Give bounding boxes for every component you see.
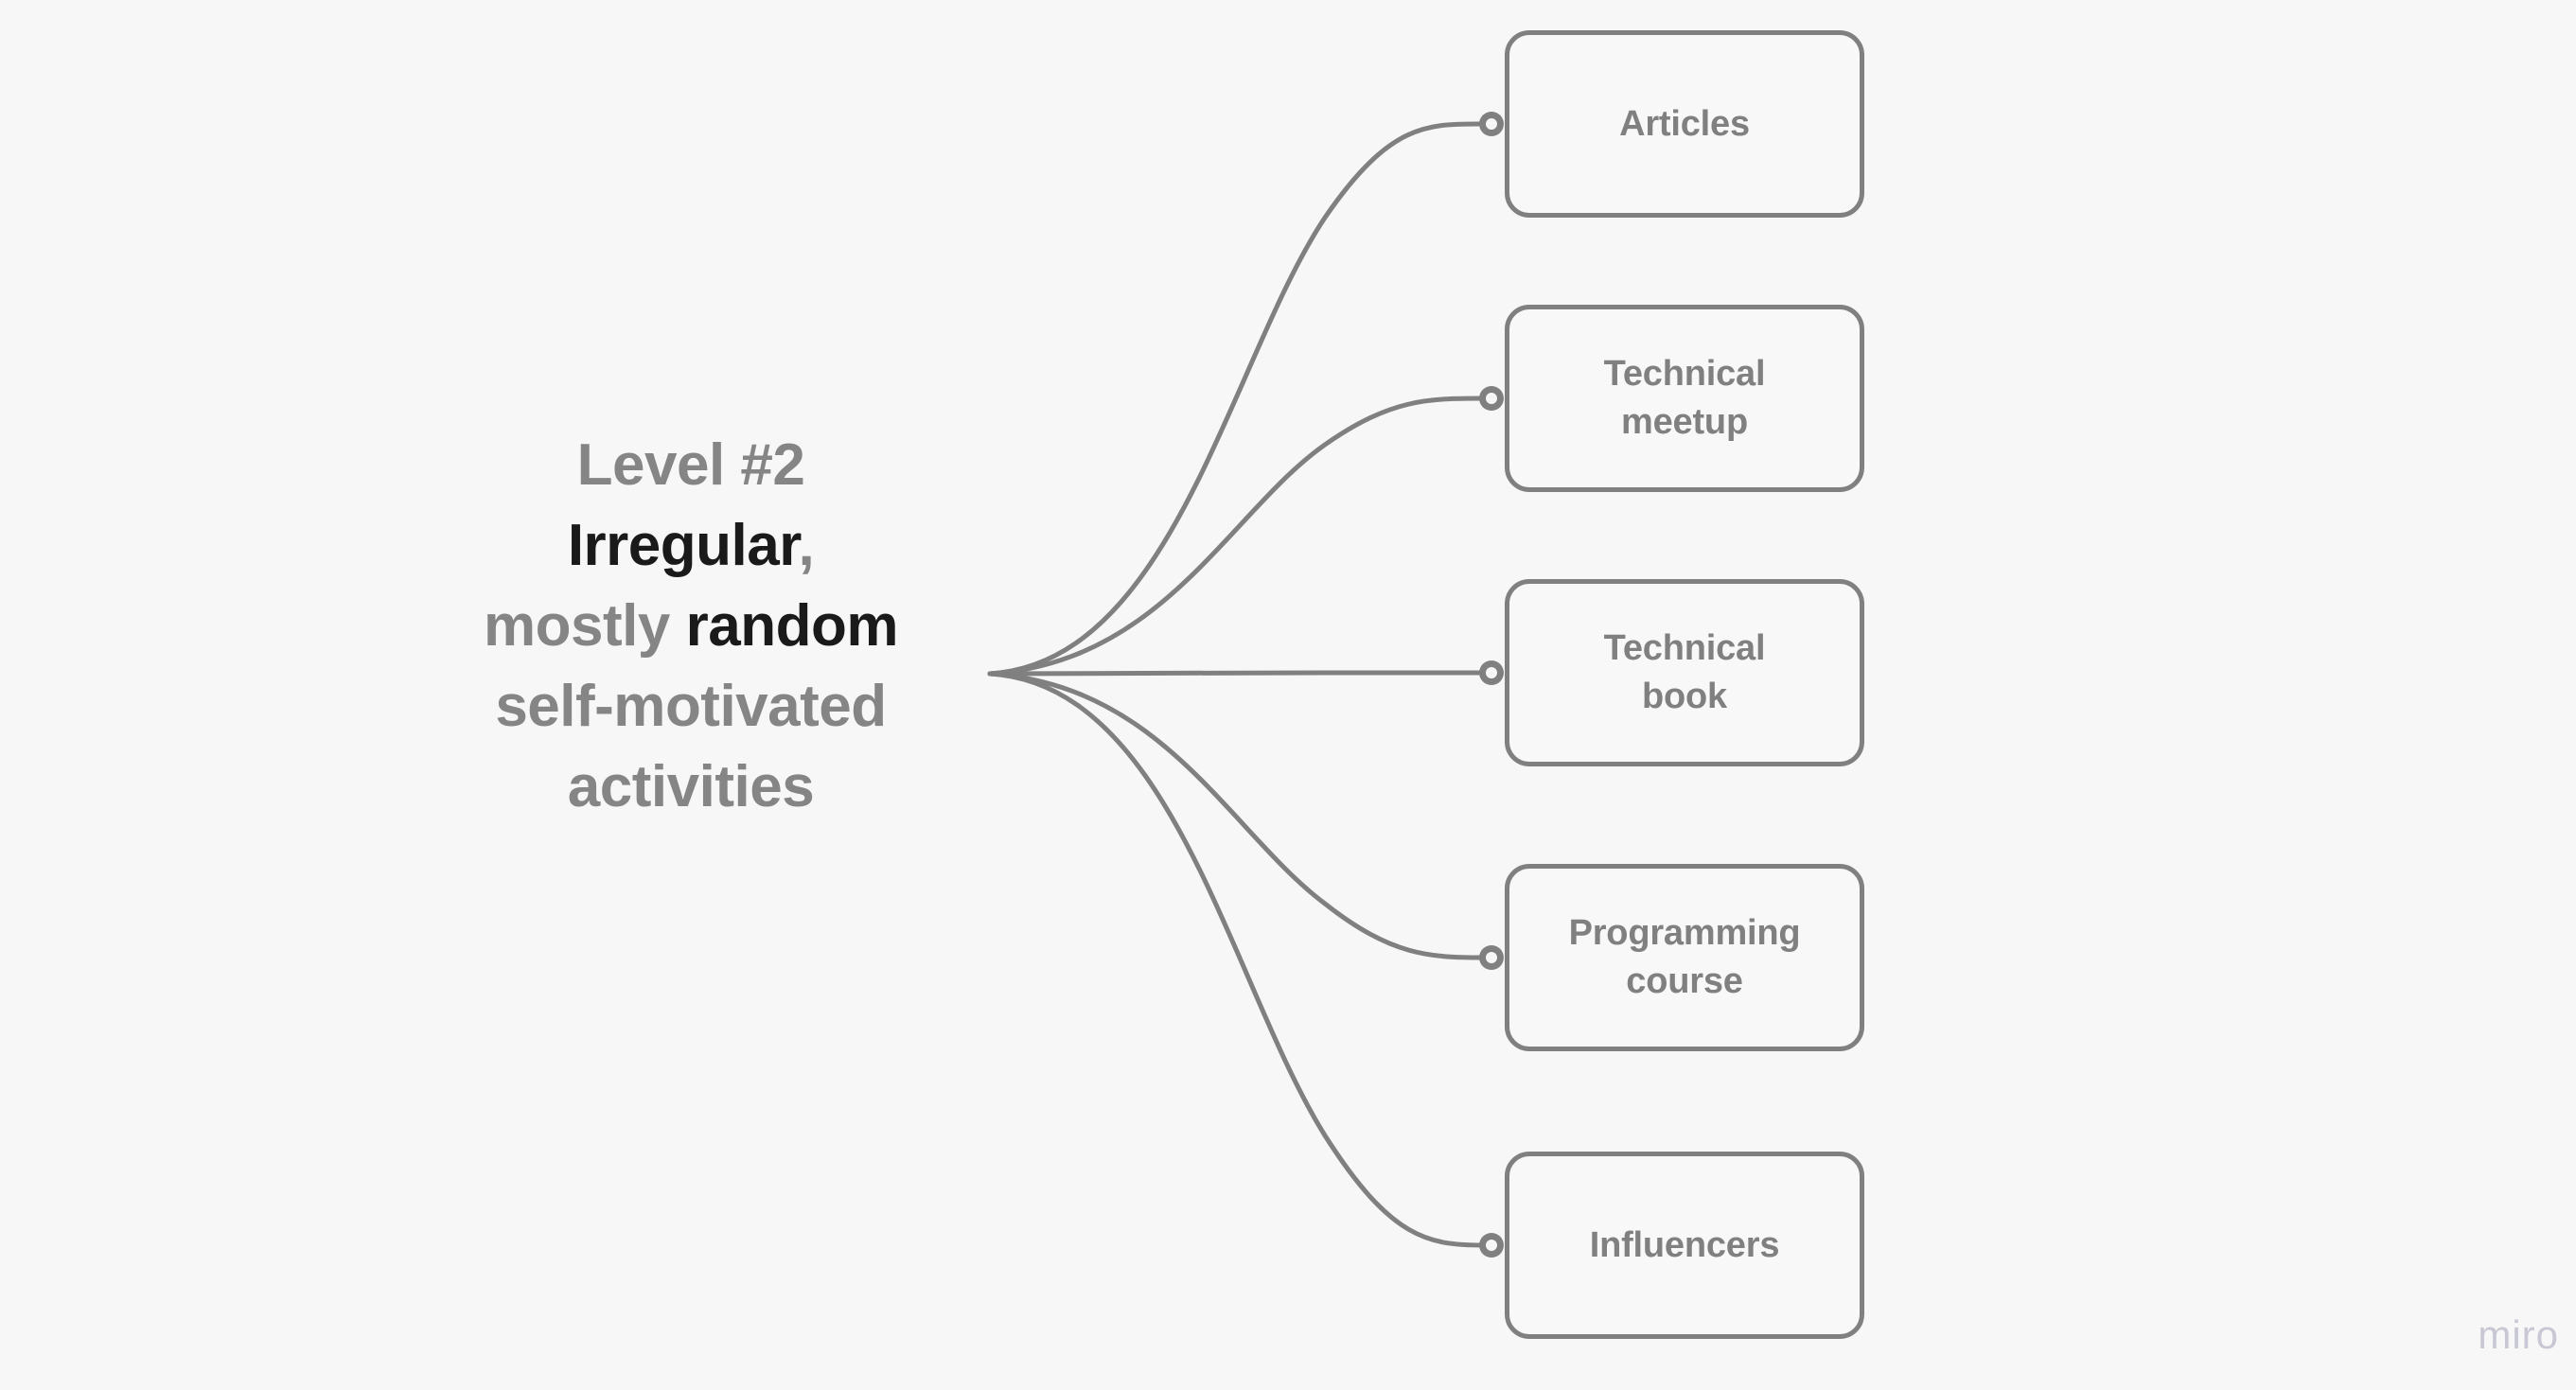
root-line-2: Irregular, [407, 506, 975, 587]
node-programming-course[interactable]: Programming course [1505, 864, 1864, 1051]
root-line-3: mostly random [407, 587, 975, 667]
node-influencers[interactable]: Influencers [1505, 1152, 1864, 1339]
root-emphasis-random: random [686, 593, 898, 659]
root-line-5: activities [407, 748, 975, 828]
node-technical-meetup[interactable]: Technical meetup [1505, 305, 1864, 492]
edge-to-technical-book [990, 673, 1484, 674]
node-articles[interactable]: Articles [1505, 30, 1864, 218]
node-label-technical-book: Technical book [1587, 625, 1783, 720]
edge-endpoint-technical-book [1479, 660, 1504, 685]
root-line-1: Level #2 [407, 426, 975, 506]
root-node[interactable]: Level #2 Irregular, mostly random self-m… [407, 426, 975, 828]
node-label-programming-course: Programming course [1552, 909, 1818, 1005]
edge-to-articles [990, 124, 1484, 674]
node-label-influencers: Influencers [1573, 1222, 1797, 1270]
edge-endpoint-influencers [1479, 1233, 1504, 1258]
edge-endpoint-articles [1479, 112, 1504, 136]
edge-layer [0, 0, 2576, 1390]
node-label-articles: Articles [1602, 100, 1767, 149]
node-technical-book[interactable]: Technical book [1505, 579, 1864, 766]
edge-endpoint-technical-meetup [1479, 386, 1504, 411]
edge-to-programming-course [990, 674, 1484, 958]
root-line-2-tail: , [798, 513, 814, 578]
edge-to-technical-meetup [990, 398, 1484, 674]
miro-watermark: miro [2478, 1312, 2559, 1358]
root-line-4: self-motivated [407, 667, 975, 748]
edge-to-influencers [990, 674, 1484, 1245]
edge-endpoint-programming-course [1479, 945, 1504, 970]
root-line-5-text: activities [568, 754, 814, 819]
root-emphasis-irregular: Irregular [568, 513, 799, 578]
root-line-3-lead: mostly [484, 593, 686, 659]
root-level-label: Level #2 [577, 432, 805, 498]
mindmap-canvas: Level #2 Irregular, mostly random self-m… [0, 0, 2576, 1390]
node-label-technical-meetup: Technical meetup [1587, 350, 1783, 446]
root-line-4-text: self-motivated [495, 674, 886, 739]
